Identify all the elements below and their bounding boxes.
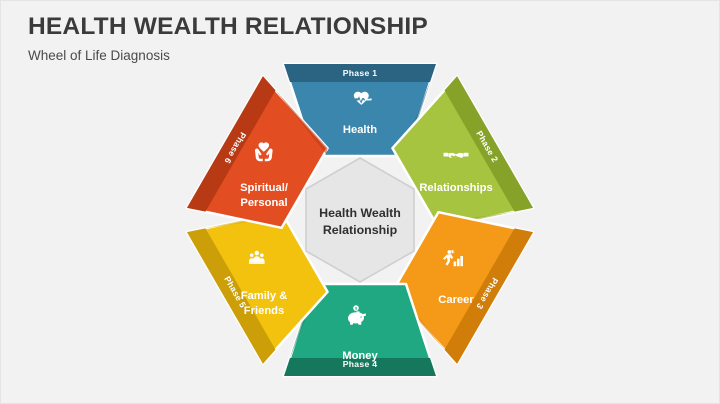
segment-health-label: Health	[343, 124, 377, 136]
hub-label-line1: Health Wealth	[319, 206, 401, 220]
wheel-of-life-diagram: Health Wealth Relationship Health	[182, 42, 538, 398]
phase-label-health-wrap: Phase 1	[343, 68, 378, 78]
segment-spiritual-personal-label-line1: Spiritual/	[240, 182, 288, 194]
phase-label-money: Phase 4	[343, 359, 378, 369]
phase-label-money-wrap: Phase 4	[343, 359, 378, 369]
wheel-svg: Health Wealth Relationship Health	[182, 42, 538, 398]
segment-family-friends-label-line2: Friends	[244, 305, 284, 317]
hub-hexagon-shape	[306, 158, 414, 282]
slide-canvas: HEALTH WEALTH RELATIONSHIP Wheel of Life…	[0, 0, 720, 404]
hub-label-line2: Relationship	[323, 223, 398, 237]
segment-family-friends-label-line1: Family &	[241, 290, 288, 302]
segment-relationships-label: Relationships	[419, 182, 492, 194]
page-title: HEALTH WEALTH RELATIONSHIP	[28, 14, 448, 40]
segment-career-label: Career	[438, 294, 474, 306]
hub-hexagon[interactable]: Health Wealth Relationship	[306, 158, 414, 282]
segment-spiritual-personal-label-line2: Personal	[240, 197, 287, 209]
phase-label-health: Phase 1	[343, 68, 378, 78]
